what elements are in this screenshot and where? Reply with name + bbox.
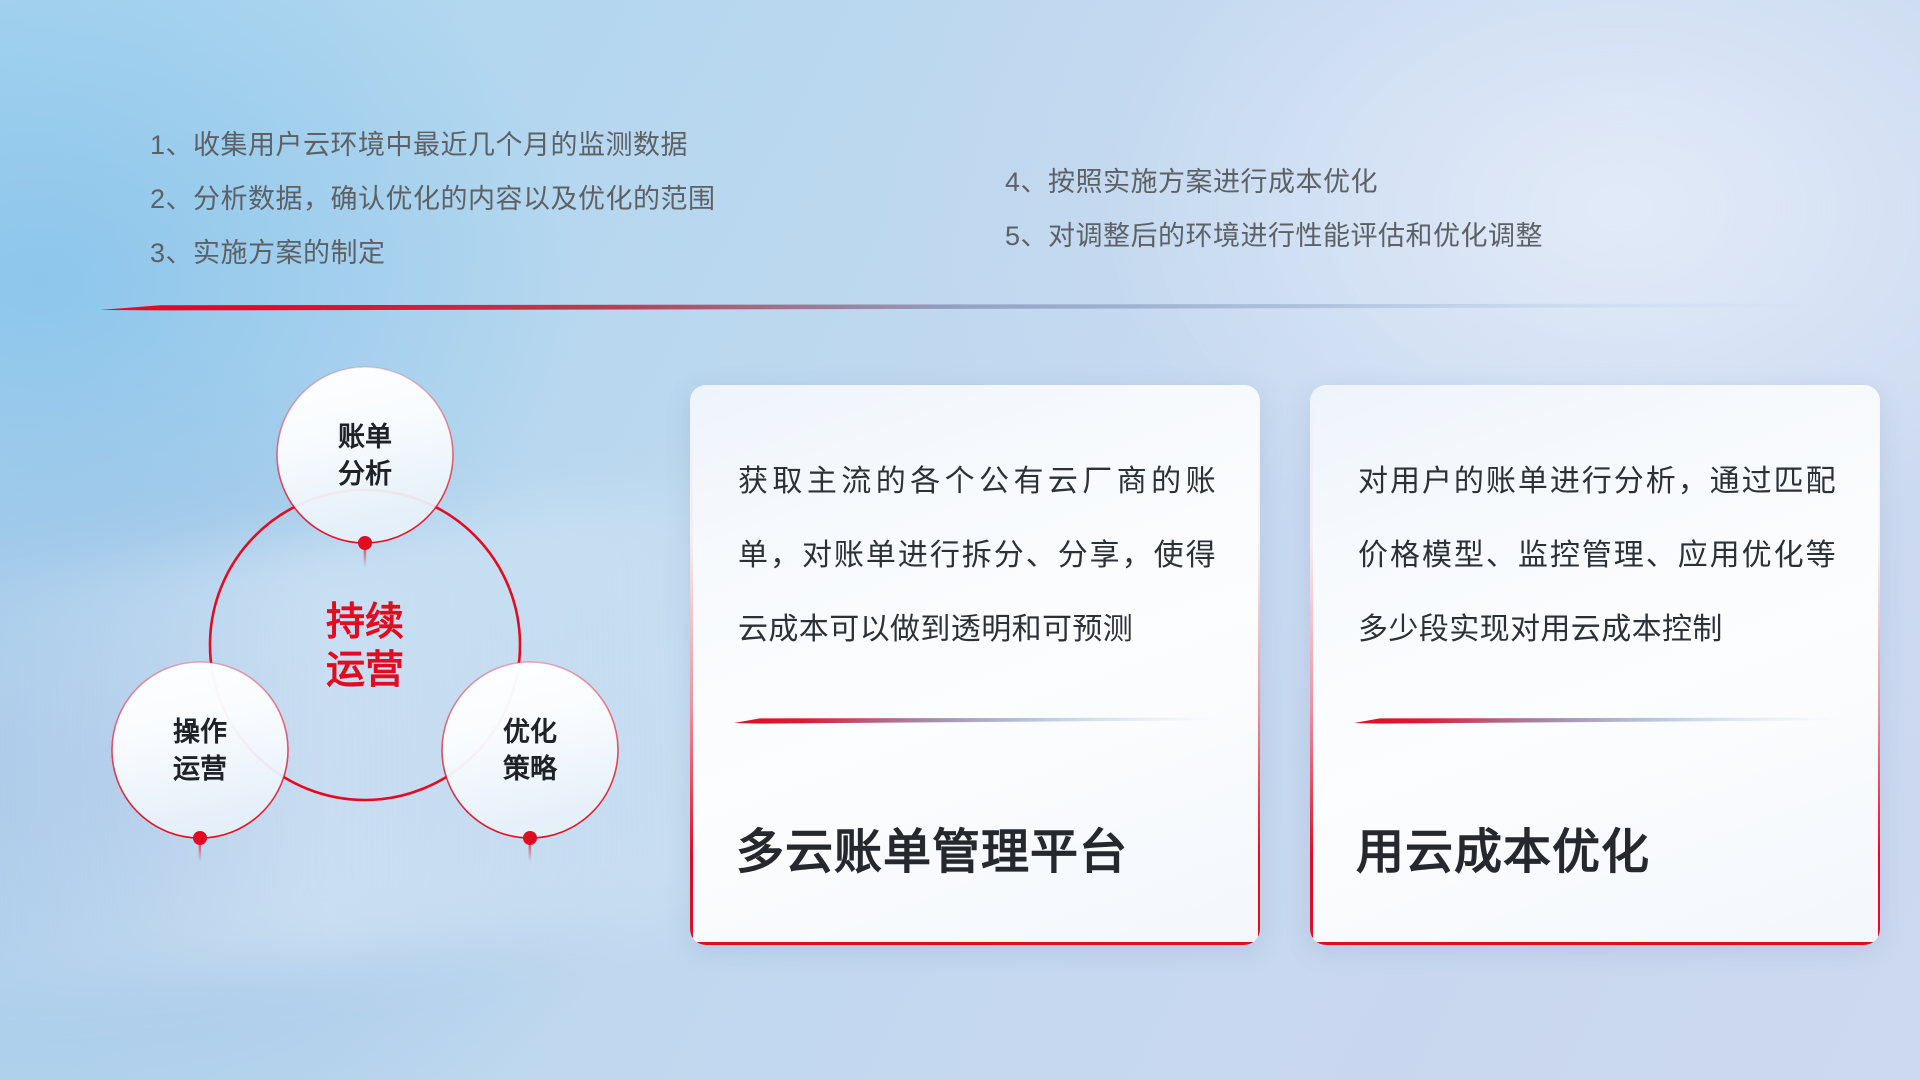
diagram-bubble-billing-analysis[interactable]: 账单 分析 bbox=[277, 367, 453, 567]
bubble-label-line2: 分析 bbox=[338, 459, 392, 489]
feature-card-cloud-cost-optimization[interactable]: 对用户的账单进行分析，通过匹配价格模型、监控管理、应用优化等多少段实现对用云成本… bbox=[1310, 385, 1880, 945]
bubble-node-dot bbox=[358, 536, 372, 550]
slide-canvas: 1、收集用户云环境中最近几个月的监测数据 2、分析数据，确认优化的内容以及优化的… bbox=[0, 0, 1920, 1080]
card-border-right bbox=[1258, 385, 1261, 945]
diagram-center-label-line2: 运营 bbox=[326, 649, 404, 692]
card-title: 用云成本优化 bbox=[1356, 829, 1850, 877]
bubble-label-line1: 账单 bbox=[338, 422, 392, 452]
card-border-bottom bbox=[1310, 942, 1880, 945]
bubble-label-line1: 优化 bbox=[503, 717, 557, 747]
list-item: 4、按照实施方案进行成本优化 bbox=[1005, 155, 1543, 209]
list-item: 5、对调整后的环境进行性能评估和优化调整 bbox=[1005, 209, 1543, 263]
card-border-bottom bbox=[690, 942, 1260, 945]
card-body-text: 获取主流的各个公有云厂商的账单，对账单进行拆分、分享，使得云成本可以做到透明和可… bbox=[738, 445, 1216, 667]
bubble-node-dot bbox=[523, 831, 537, 845]
card-border-left bbox=[690, 385, 693, 945]
bubble-node-dot bbox=[193, 831, 207, 845]
feature-card-multicloud-billing[interactable]: 获取主流的各个公有云厂商的账单，对账单进行拆分、分享，使得云成本可以做到透明和可… bbox=[690, 385, 1260, 945]
card-title: 多云账单管理平台 bbox=[736, 829, 1230, 877]
list-item: 1、收集用户云环境中最近几个月的监测数据 bbox=[150, 118, 716, 172]
diagram-bubble-optimization-strategy[interactable]: 优化 策略 bbox=[442, 662, 618, 862]
section-divider bbox=[100, 300, 1840, 316]
bubble-label-line2: 运营 bbox=[173, 754, 227, 784]
card-accent-rule bbox=[734, 715, 1220, 727]
card-border-left bbox=[1310, 385, 1313, 945]
list-item: 2、分析数据，确认优化的内容以及优化的范围 bbox=[150, 172, 716, 226]
list-item: 3、实施方案的制定 bbox=[150, 226, 716, 280]
diagram-bubble-operations[interactable]: 操作 运营 bbox=[112, 662, 288, 862]
card-body-text: 对用户的账单进行分析，通过匹配价格模型、监控管理、应用优化等多少段实现对用云成本… bbox=[1358, 445, 1836, 667]
card-accent-rule bbox=[1354, 715, 1840, 727]
card-border-right bbox=[1878, 385, 1881, 945]
bubble-label-line2: 策略 bbox=[503, 753, 558, 784]
diagram-center-label-line1: 持续 bbox=[326, 601, 404, 644]
continuous-operation-diagram: 持续 运营 账单 分析 操作 运营 优化 策略 bbox=[95, 350, 655, 960]
steps-list-left: 1、收集用户云环境中最近几个月的监测数据 2、分析数据，确认优化的内容以及优化的… bbox=[150, 118, 716, 280]
steps-list-right: 4、按照实施方案进行成本优化 5、对调整后的环境进行性能评估和优化调整 bbox=[1005, 155, 1543, 263]
bubble-label-line1: 操作 bbox=[173, 717, 227, 747]
